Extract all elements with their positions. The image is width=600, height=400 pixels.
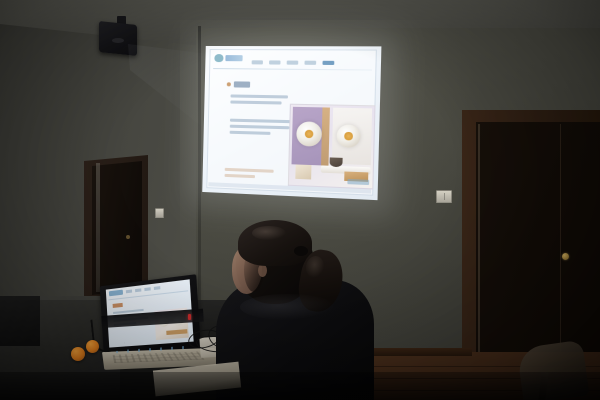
person-shoulder-highlight xyxy=(240,294,336,320)
slide-text-line xyxy=(231,94,288,98)
projected-slide xyxy=(202,46,381,200)
slide-paragraph-two xyxy=(230,119,294,136)
lamp-core xyxy=(345,132,353,140)
slide-heading-text xyxy=(234,81,250,87)
screen-nav xyxy=(126,286,161,293)
screen-photo-table xyxy=(166,329,187,335)
screen-nav-item xyxy=(135,288,141,292)
door-right[interactable] xyxy=(476,122,600,368)
screen-heading xyxy=(113,303,123,308)
slide-text-line xyxy=(230,125,290,130)
light-switch-right[interactable] xyxy=(436,190,452,203)
projector-lens-icon xyxy=(112,38,124,43)
slide-footer-line xyxy=(225,168,274,173)
door-left-knob-icon[interactable] xyxy=(126,235,130,239)
photo-bowl xyxy=(330,157,343,167)
door-right-knob-icon[interactable] xyxy=(562,253,569,260)
monitor-back xyxy=(0,296,40,346)
slide-heading xyxy=(227,81,250,87)
slide-nav-item xyxy=(287,61,299,65)
person-hair-tie xyxy=(294,246,308,256)
slide-nav-item xyxy=(252,60,263,64)
laptop-status-led-icon xyxy=(188,314,191,320)
slide-nav-item xyxy=(269,60,280,64)
lamp-core xyxy=(305,130,313,138)
slide-paragraph-one xyxy=(230,94,288,104)
slide-nav-item-active xyxy=(322,61,334,65)
photo-wood-panel xyxy=(321,107,330,165)
door-right-panel-split xyxy=(560,124,561,366)
logo-wordmark xyxy=(225,55,242,61)
screen-nav-item xyxy=(126,290,132,294)
slide-logo-icon xyxy=(214,53,242,62)
slide-nav xyxy=(252,60,335,65)
screen-logo-icon xyxy=(109,290,123,297)
logo-mark-icon xyxy=(214,54,223,62)
room-photo-scene: Conference room presentation Dimly lit m… xyxy=(0,0,600,400)
door-left-light-gap xyxy=(96,163,100,292)
light-switch-left[interactable] xyxy=(155,208,164,218)
photo-credit-watermark xyxy=(347,179,369,185)
slide-text-line xyxy=(230,119,294,124)
door-right-seam xyxy=(478,124,480,366)
orange-fruit xyxy=(71,347,85,361)
photo-cube xyxy=(295,164,311,179)
screen-nav-item xyxy=(154,286,161,290)
screen-nav-item xyxy=(144,287,150,291)
orange-fruit xyxy=(86,340,99,353)
slide-product-photo xyxy=(288,104,376,190)
bullet-icon xyxy=(227,82,231,86)
person-hair-highlight xyxy=(252,226,286,240)
slide-nav-item xyxy=(304,61,316,65)
